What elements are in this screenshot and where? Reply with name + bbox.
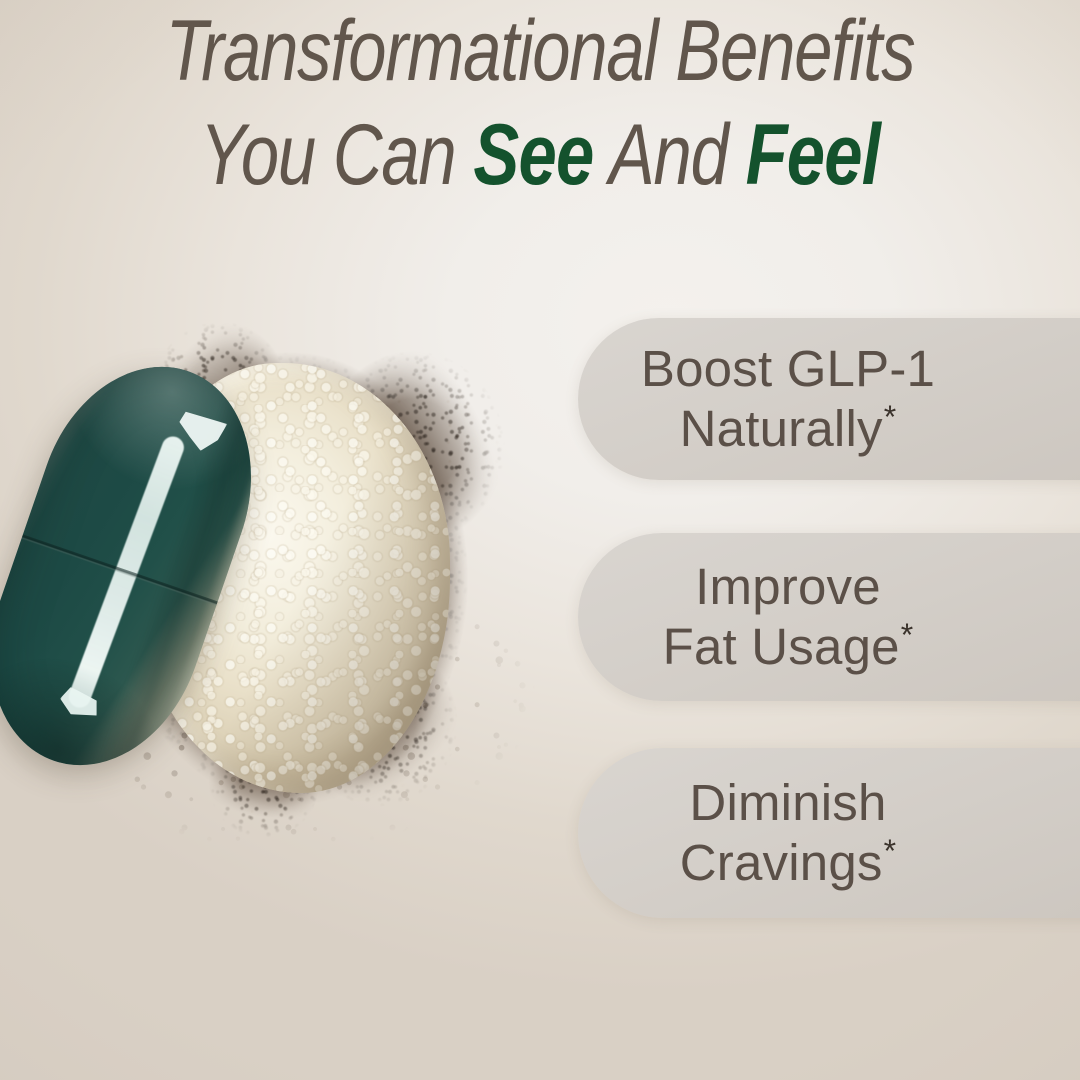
benefit-pill-2-line-2: Fat Usage* [663,617,914,677]
benefit-pill-2-line-2-text: Fat Usage [663,618,900,675]
headline: Transformational Benefits You Can See An… [0,8,1080,199]
benefit-pill-1-line-2-text: Naturally [680,400,883,457]
promotional-graphic: Transformational Benefits You Can See An… [0,0,1080,1080]
footnote-asterisk: * [884,833,897,869]
product-image [0,255,580,955]
benefit-pill-1-line-2: Naturally* [641,399,935,459]
benefit-pill-2-line-1: Improve [663,557,914,617]
benefit-pill-3: Diminish Cravings* [578,748,1080,918]
benefit-pill-3-line-2: Cravings* [680,833,897,893]
benefit-pill-2: Improve Fat Usage* [578,533,1080,701]
headline-line-2-prefix: You Can [200,107,456,203]
benefit-pill-3-text: Diminish Cravings* [680,773,997,892]
benefit-pill-1-text: Boost GLP-1 Naturally* [641,339,1035,458]
headline-accent-feel: Feel [746,107,880,203]
footnote-asterisk: * [901,617,914,653]
headline-line-2: You Can See And Feel [108,112,972,200]
footnote-asterisk: * [884,399,897,435]
benefit-pill-3-line-2-text: Cravings [680,834,883,891]
benefit-pill-1: Boost GLP-1 Naturally* [578,318,1080,480]
headline-accent-see: See [473,107,593,203]
benefit-pill-3-line-1: Diminish [680,773,897,833]
headline-line-2-conjunction: And [609,107,728,203]
benefit-pill-2-text: Improve Fat Usage* [663,557,1014,676]
headline-line-1: Transformational Benefits [108,8,972,96]
benefit-pill-1-line-1: Boost GLP-1 [641,339,935,399]
